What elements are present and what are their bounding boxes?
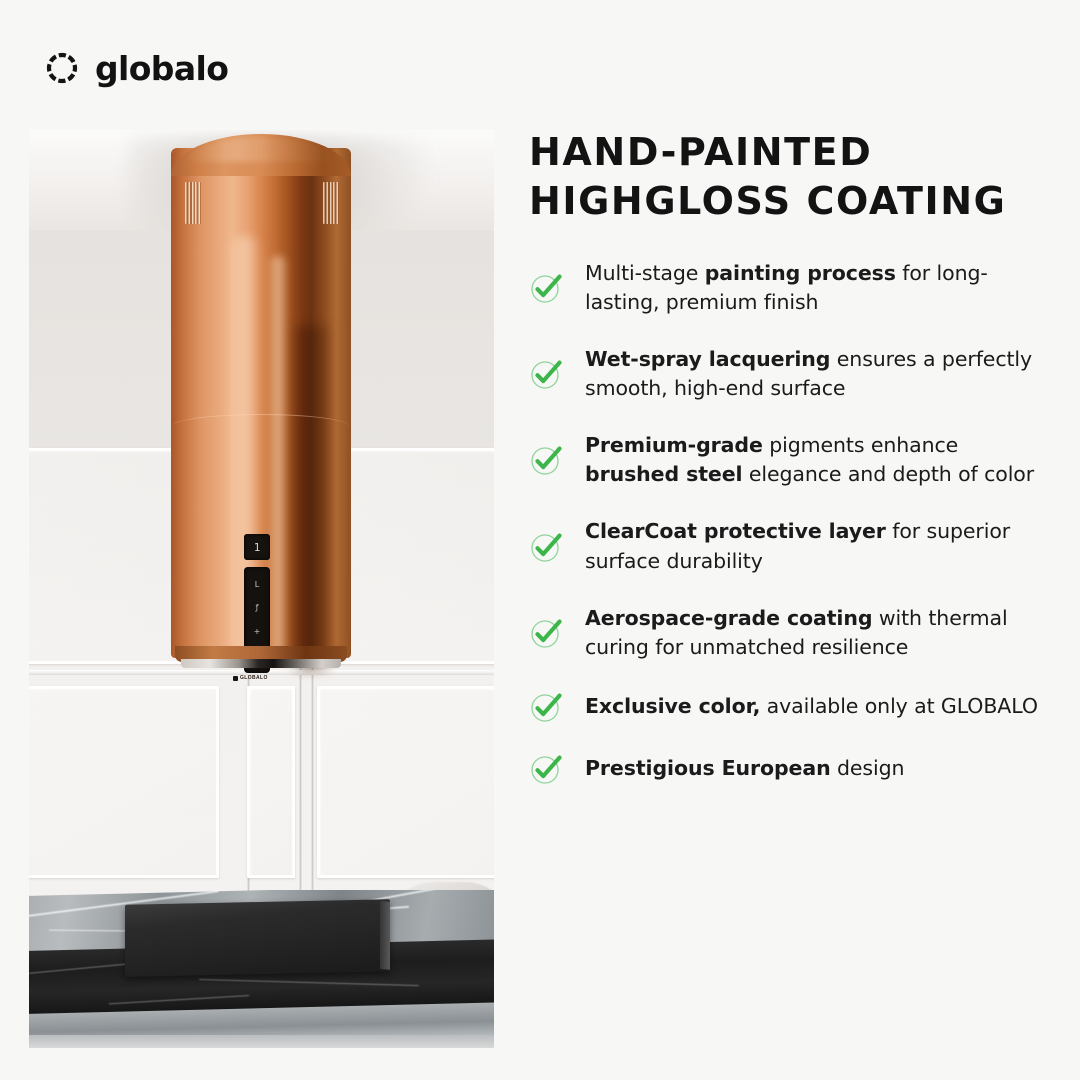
feature-item: Wet-spray lacquering ensures a perfectly…: [529, 345, 1045, 403]
feature-item: Exclusive color, available only at GLOBA…: [529, 690, 1045, 724]
feature-text-plain: elegance and depth of color: [742, 462, 1034, 486]
hood-brand-badge: GLOBALO: [233, 675, 268, 681]
feature-text-emphasis: painting process: [705, 261, 896, 285]
feature-text: ClearCoat protective layer for superior …: [585, 517, 1045, 575]
hood-badge-label: GLOBALO: [240, 675, 268, 681]
hood-underside: [181, 659, 341, 668]
kitchen-scene: 1 L ƒ + − GLOBALO: [29, 130, 494, 1048]
hood-badge-icon: [233, 676, 238, 681]
hood-vent-left: [185, 182, 201, 224]
brand-name: globalo: [95, 52, 228, 85]
check-circle-icon: [529, 357, 563, 391]
feature-text-plain: design: [831, 756, 905, 780]
check-circle-icon: [529, 752, 563, 786]
hood-key-fan[interactable]: ƒ: [256, 604, 259, 612]
brand-header: globalo: [44, 50, 228, 86]
feature-text-plain: pigments enhance: [763, 433, 958, 457]
feature-text: Aerospace-grade coating with thermal cur…: [585, 604, 1045, 662]
feature-text: Wet-spray lacquering ensures a perfectly…: [585, 345, 1045, 403]
feature-item: Aerospace-grade coating with thermal cur…: [529, 604, 1045, 662]
hood-key-increase[interactable]: +: [254, 628, 261, 636]
headline-line-1: HAND-PAINTED: [529, 128, 1045, 177]
feature-text-emphasis: Prestigious European: [585, 756, 831, 780]
feature-text: Prestigious European design: [585, 754, 904, 783]
feature-list: Multi-stage painting process for long-la…: [529, 259, 1045, 786]
hood-top-highlight: [185, 136, 335, 162]
feature-item: Prestigious European design: [529, 752, 1045, 786]
feature-item: Premium-grade pigments enhance brushed s…: [529, 431, 1045, 489]
hood-key-light[interactable]: L: [255, 581, 259, 589]
induction-cooktop: [125, 899, 390, 977]
feature-text: Premium-grade pigments enhance brushed s…: [585, 431, 1045, 489]
feature-text: Multi-stage painting process for long-la…: [585, 259, 1045, 317]
feature-item: ClearCoat protective layer for superior …: [529, 517, 1045, 575]
feature-text: Exclusive color, available only at GLOBA…: [585, 692, 1038, 721]
check-circle-icon: [529, 690, 563, 724]
feature-text-emphasis: brushed steel: [585, 462, 742, 486]
range-hood: 1 L ƒ + − GLOBALO: [171, 130, 351, 671]
content-column: HAND-PAINTED HIGHGLOSS COATING Multi-sta…: [529, 128, 1045, 786]
floor: [29, 1035, 494, 1048]
check-circle-icon: [529, 616, 563, 650]
segmented-circle-icon: [44, 50, 80, 86]
feature-text-emphasis: ClearCoat protective layer: [585, 519, 886, 543]
page-title: HAND-PAINTED HIGHGLOSS COATING: [529, 128, 1045, 227]
product-image: 1 L ƒ + − GLOBALO: [29, 130, 494, 1048]
feature-text-emphasis: Wet-spray lacquering: [585, 347, 830, 371]
feature-item: Multi-stage painting process for long-la…: [529, 259, 1045, 317]
hood-vent-right: [323, 182, 339, 224]
feature-text-emphasis: Exclusive color,: [585, 694, 760, 718]
hood-sheen-2: [267, 256, 289, 666]
check-circle-icon: [529, 530, 563, 564]
wall-panel: [317, 686, 494, 878]
headline-line-2: HIGHGLOSS COATING: [529, 177, 1045, 226]
hood-display: 1: [244, 534, 270, 560]
wall-panel: [247, 686, 295, 878]
check-circle-icon: [529, 443, 563, 477]
cooktop-edge: [380, 901, 390, 970]
hood-dark-band: [289, 326, 331, 671]
check-circle-icon: [529, 271, 563, 305]
feature-text-emphasis: Aerospace-grade coating: [585, 606, 872, 630]
wall-panel: [29, 686, 219, 878]
feature-text-plain: available only at GLOBALO: [760, 694, 1038, 718]
feature-text-plain: Multi-stage: [585, 261, 705, 285]
feature-text-emphasis: Premium-grade: [585, 433, 763, 457]
